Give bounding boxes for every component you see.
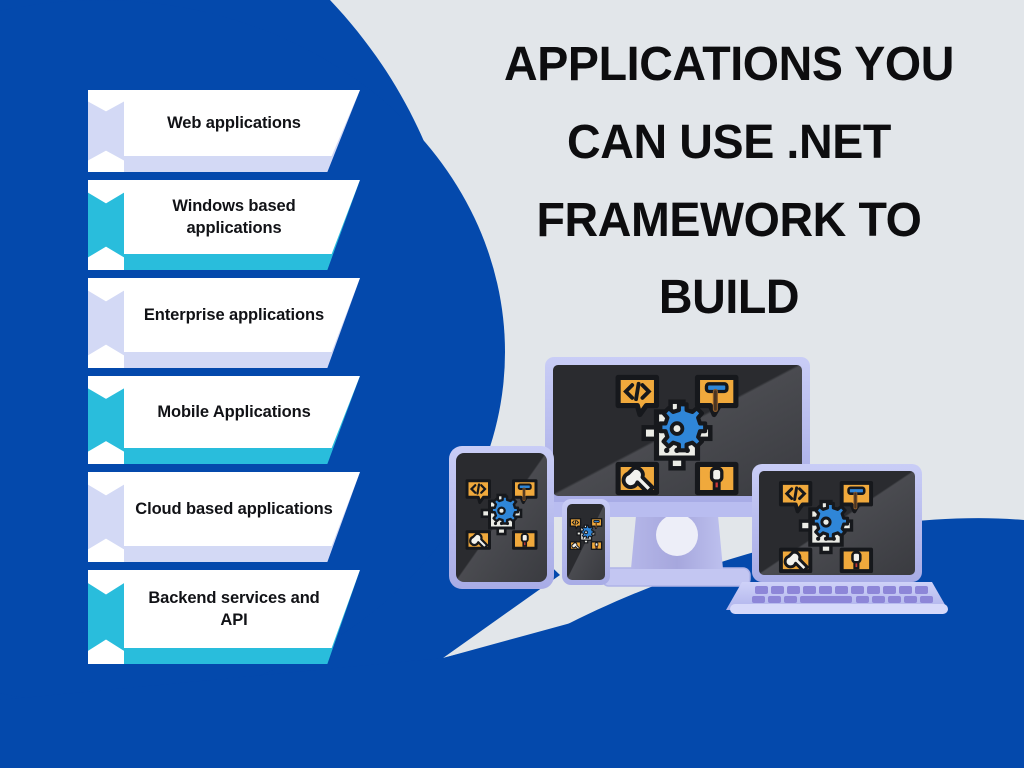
banner-panel: Web applications xyxy=(124,90,360,156)
banner-panel: Backend services and API xyxy=(124,570,360,648)
banner-item-windows-based-applications[interactable]: Windows based applications xyxy=(88,180,388,270)
banner-ribbon-tail xyxy=(88,570,124,664)
banner-ribbon-tail xyxy=(88,376,124,464)
smartphone xyxy=(562,499,610,585)
banner-panel: Windows based applications xyxy=(124,180,360,254)
banner-label: Windows based applications xyxy=(124,195,360,239)
banner-frame: Enterprise applications xyxy=(88,278,360,368)
banner-list: Web applications Windows based applicati… xyxy=(88,82,388,668)
banner-label: Web applications xyxy=(124,112,360,134)
banner-label: Backend services and API xyxy=(124,587,360,631)
banner-frame: Backend services and API xyxy=(88,570,360,664)
banner-item-mobile-applications[interactable]: Mobile Applications xyxy=(88,376,388,464)
banner-ribbon-tail xyxy=(88,278,124,368)
banner-frame: Windows based applications xyxy=(88,180,360,270)
banner-item-web-applications[interactable]: Web applications xyxy=(88,90,388,172)
banner-item-backend-services-and-api[interactable]: Backend services and API xyxy=(88,570,388,664)
banner-label: Enterprise applications xyxy=(124,304,360,326)
banner-panel: Enterprise applications xyxy=(124,278,360,352)
banner-ribbon-tail xyxy=(88,180,124,270)
banner-panel: Cloud based applications xyxy=(124,472,360,546)
tablet xyxy=(449,446,554,589)
banner-frame: Web applications xyxy=(88,90,360,172)
slide-canvas: APPLICATIONS YOU CAN USE .NET FRAMEWORK … xyxy=(0,0,1024,768)
monitor-stand-base xyxy=(602,568,750,586)
banner-item-enterprise-applications[interactable]: Enterprise applications xyxy=(88,278,388,368)
banner-label: Cloud based applications xyxy=(124,498,360,520)
laptop xyxy=(726,464,948,614)
laptop-front-edge xyxy=(730,604,948,614)
banner-frame: Mobile Applications xyxy=(88,376,360,464)
monitor-stand-logo xyxy=(656,514,698,556)
banner-panel: Mobile Applications xyxy=(124,376,360,448)
banner-frame: Cloud based applications xyxy=(88,472,360,562)
banner-ribbon-tail xyxy=(88,472,124,562)
banner-label: Mobile Applications xyxy=(124,401,360,423)
banner-item-cloud-based-applications[interactable]: Cloud based applications xyxy=(88,472,388,562)
banner-ribbon-tail xyxy=(88,90,124,172)
